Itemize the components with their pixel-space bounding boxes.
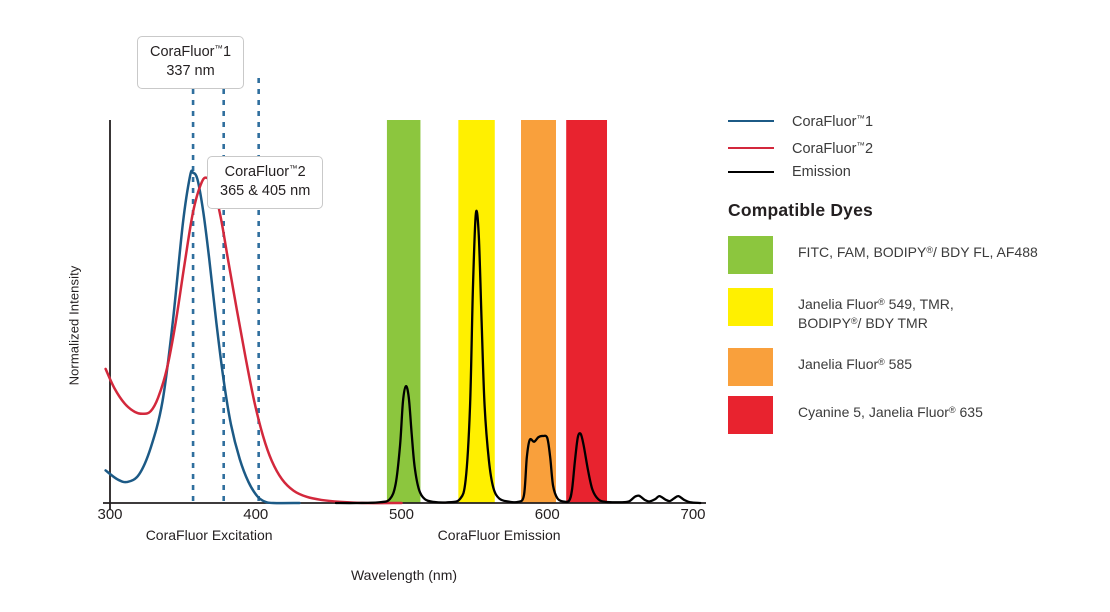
dye-label-green: FITC, FAM, BODIPY®/ BDY FL, AF488 (798, 236, 1038, 262)
dye-label-red: Cyanine 5, Janelia Fluor® 635 (798, 396, 983, 422)
dye-label-line: Cyanine 5, Janelia Fluor® 635 (798, 403, 983, 422)
registered-trademark-icon: ® (851, 316, 858, 326)
legend-label-corafluor-2: CoraFluor™2 (792, 140, 873, 157)
emission-band-yellow (458, 120, 494, 503)
emission-band-orange (521, 120, 556, 503)
legend-line-swatch-corafluor-1 (728, 120, 774, 122)
x-tick-label-300: 300 (80, 506, 140, 523)
legend-item-corafluor-2: CoraFluor™2 (728, 140, 873, 156)
compatible-dyes-heading: Compatible Dyes (728, 200, 873, 221)
trademark-icon: ™ (289, 163, 298, 173)
callout-corafluor-2: CoraFluor™2 365 & 405 nm (207, 156, 323, 209)
dye-label-yellow: Janelia Fluor® 549, TMR,BODIPY®/ BDY TMR (798, 288, 954, 333)
series-path-corafluor-1 (106, 171, 300, 503)
dye-item-red: Cyanine 5, Janelia Fluor® 635 (728, 396, 983, 434)
registered-trademark-icon: ® (878, 357, 885, 367)
dye-color-swatch-green (728, 236, 773, 274)
excitation-marker-line-group (193, 78, 259, 503)
x-axis-title: Wavelength (nm) (254, 567, 554, 583)
registered-trademark-icon: ® (949, 405, 956, 415)
spectra-chart: Normalized Intensity 300400500600700 Cor… (0, 0, 720, 612)
y-axis-title: Normalized Intensity (67, 226, 82, 426)
dye-color-swatch-red (728, 396, 773, 434)
legend-line-swatch-emission (728, 171, 774, 173)
dye-label-orange: Janelia Fluor® 585 (798, 348, 912, 374)
x-tick-label-400: 400 (226, 506, 286, 523)
x-tick-label-500: 500 (372, 506, 432, 523)
trademark-icon: ™ (214, 43, 223, 53)
dye-label-line: FITC, FAM, BODIPY®/ BDY FL, AF488 (798, 243, 1038, 262)
dye-label-line: BODIPY®/ BDY TMR (798, 314, 954, 333)
region-caption-excitation: CoraFluor Excitation (59, 527, 359, 543)
region-caption-emission: CoraFluor Emission (349, 527, 649, 543)
legend-panel: CoraFluor™1 CoraFluor™2 Emission Compati… (728, 0, 1110, 612)
trademark-icon: ™ (856, 140, 865, 150)
registered-trademark-icon: ® (878, 297, 885, 307)
x-tick-label-600: 600 (517, 506, 577, 523)
dye-item-green: FITC, FAM, BODIPY®/ BDY FL, AF488 (728, 236, 1038, 274)
legend-label-corafluor-1: CoraFluor™1 (792, 113, 873, 130)
callout-corafluor-1-line2: 337 nm (150, 62, 231, 81)
dye-label-line: Janelia Fluor® 549, TMR, (798, 295, 954, 314)
dye-item-orange: Janelia Fluor® 585 (728, 348, 912, 386)
callout-corafluor-2-line2: 365 & 405 nm (220, 182, 310, 201)
trademark-icon: ™ (856, 113, 865, 123)
legend-item-emission: Emission (728, 164, 851, 180)
legend-label-emission: Emission (792, 164, 851, 180)
emission-band-group (387, 120, 607, 503)
registered-trademark-icon: ® (926, 245, 933, 255)
dye-label-line: Janelia Fluor® 585 (798, 355, 912, 374)
emission-band-red (566, 120, 607, 503)
callout-corafluor-2-line1: CoraFluor™2 (220, 163, 310, 182)
emission-band-green (387, 120, 421, 503)
x-tick-label-700: 700 (663, 506, 723, 523)
legend-item-corafluor-1: CoraFluor™1 (728, 113, 873, 129)
series-path-corafluor-2 (106, 178, 402, 503)
dye-color-swatch-orange (728, 348, 773, 386)
legend-line-swatch-corafluor-2 (728, 147, 774, 149)
callout-corafluor-1: CoraFluor™1 337 nm (137, 36, 244, 89)
callout-corafluor-1-line1: CoraFluor™1 (150, 43, 231, 62)
dye-color-swatch-yellow (728, 288, 773, 326)
dye-item-yellow: Janelia Fluor® 549, TMR,BODIPY®/ BDY TMR (728, 288, 954, 333)
